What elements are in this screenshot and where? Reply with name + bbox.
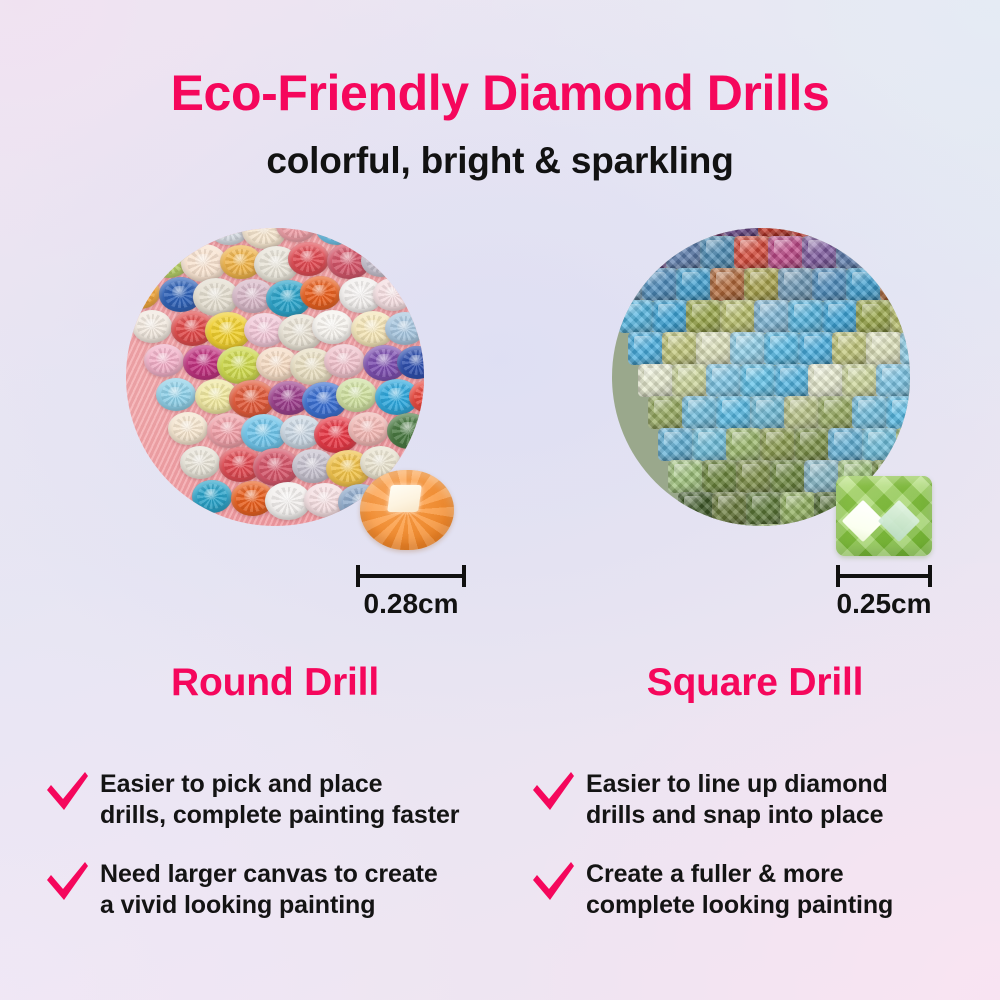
square-drill-stone <box>784 396 820 429</box>
square-drill-stone <box>896 428 910 461</box>
round-drill-stone <box>348 412 389 446</box>
square-drill-measurement-label: 0.25cm <box>784 588 984 620</box>
list-item: Easier to line up diamond drills and sna… <box>530 768 992 834</box>
square-drill-stone <box>794 428 830 461</box>
round-drill-stone <box>192 480 232 513</box>
square-drill-stone <box>744 268 780 301</box>
list-item-line2: a vivid looking painting <box>100 890 514 921</box>
square-drill-stone <box>658 428 694 461</box>
infographic-page: Eco-Friendly Diamond Drills colorful, br… <box>0 0 1000 1000</box>
square-drill-stone <box>788 300 824 333</box>
square-drill-stone <box>700 236 736 269</box>
round-drill-stone <box>312 310 353 344</box>
square-drill-stone <box>734 236 770 269</box>
round-drill-stone <box>288 242 329 276</box>
square-drill-stone <box>652 300 688 333</box>
square-drill-stone <box>716 396 752 429</box>
square-drill-stone <box>702 460 738 493</box>
square-drill-stone <box>764 332 800 365</box>
square-drill-stone <box>692 428 728 461</box>
square-drill-stone <box>846 268 882 301</box>
square-drill-stone <box>638 364 674 397</box>
square-drill-stone <box>768 236 804 269</box>
round-drill-stone <box>132 310 172 343</box>
square-drill-stone <box>712 492 748 525</box>
check-icon <box>44 860 90 904</box>
list-item-line2: complete looking painting <box>586 890 992 921</box>
square-drill-stone <box>828 428 864 461</box>
square-drill-stone <box>770 460 806 493</box>
square-drill-stone <box>852 396 888 429</box>
square-drill-stone <box>686 300 722 333</box>
measure-cap-right-icon <box>928 565 932 587</box>
square-drill-stone <box>648 396 684 429</box>
round-drill-stone <box>387 413 424 449</box>
round-drill-sample <box>360 470 454 550</box>
square-drill-stone <box>900 332 910 365</box>
square-drill-stone <box>710 268 746 301</box>
square-drill-stone <box>666 236 702 269</box>
page-subtitle: colorful, bright & sparkling <box>0 140 1000 182</box>
round-drill-stone <box>300 276 341 310</box>
square-drill-stone <box>822 300 858 333</box>
square-drill-stone <box>662 332 698 365</box>
square-drill-stone <box>682 396 718 429</box>
square-drill-stone <box>740 364 776 397</box>
square-drill-stone <box>886 396 910 429</box>
round-drill-stone <box>324 344 365 378</box>
square-drill-stone <box>668 460 704 493</box>
square-drill-stone <box>808 364 844 397</box>
square-drill-stone <box>726 428 762 461</box>
round-drill-stone <box>385 312 424 345</box>
square-drill-stone <box>842 364 878 397</box>
square-drill-stone <box>736 460 772 493</box>
list-item-text: Create a fuller & more complete looking … <box>586 858 992 920</box>
square-drill-stone <box>836 236 872 269</box>
square-drill-stone <box>812 268 848 301</box>
round-drill-stone <box>156 378 196 411</box>
round-drill-stone <box>361 244 401 277</box>
square-drill-stone <box>632 236 668 269</box>
measure-line <box>836 574 932 578</box>
page-title: Eco-Friendly Diamond Drills <box>0 64 1000 122</box>
round-drill-highlight <box>387 485 422 512</box>
list-item: Create a fuller & more complete looking … <box>530 858 992 924</box>
square-drill-stone <box>730 332 766 365</box>
square-drill-stone <box>818 396 854 429</box>
square-drill-stone <box>904 236 910 269</box>
check-icon <box>530 770 576 814</box>
list-item: Easier to pick and place drills, complet… <box>44 768 514 834</box>
list-item-line1: Easier to line up diamond <box>586 770 888 798</box>
check-icon <box>44 770 90 814</box>
square-drill-stone <box>760 428 796 461</box>
square-drill-feature-list: Easier to line up diamond drills and sna… <box>530 768 992 948</box>
list-item-line1: Create a fuller & more <box>586 860 844 888</box>
square-drill-stone <box>612 268 644 301</box>
square-drill-heading: Square Drill <box>540 661 970 705</box>
square-drill-sample <box>836 476 932 556</box>
list-item: Need larger canvas to create a vivid loo… <box>44 858 514 924</box>
measure-cap-right-icon <box>462 565 466 587</box>
list-item-line1: Need larger canvas to create <box>100 860 438 888</box>
square-drill-stone <box>678 492 714 525</box>
square-drill-stone <box>696 332 732 365</box>
square-drill-stone <box>856 300 892 333</box>
square-drill-stone <box>774 364 810 397</box>
square-drill-measure-bar <box>836 565 932 587</box>
square-drill-stone <box>756 524 792 526</box>
list-item-text: Easier to pick and place drills, complet… <box>100 768 514 830</box>
round-drill-heading: Round Drill <box>60 661 490 705</box>
square-drill-stone <box>876 364 910 397</box>
square-drill-stone <box>790 524 826 526</box>
square-drill-stone <box>746 492 782 525</box>
square-drill-stone <box>798 332 834 365</box>
round-drill-stone <box>336 378 377 412</box>
round-drill-stone <box>373 278 413 311</box>
list-item-text: Easier to line up diamond drills and sna… <box>586 768 992 830</box>
round-drill-stone <box>168 412 208 445</box>
round-drill-feature-list: Easier to pick and place drills, complet… <box>44 768 514 948</box>
square-drill-stone <box>832 332 868 365</box>
square-drill-stone <box>880 268 910 301</box>
round-drill-measure-bar <box>356 565 466 587</box>
square-drill-stone <box>722 524 758 526</box>
square-drill-stone <box>612 236 634 269</box>
square-drill-stone <box>780 492 816 525</box>
square-drill-stone <box>802 236 838 269</box>
list-item-line2: drills, complete painting faster <box>100 800 514 831</box>
list-item-line1: Easier to pick and place <box>100 770 382 798</box>
square-drill-stone <box>866 332 902 365</box>
list-item-text: Need larger canvas to create a vivid loo… <box>100 858 514 920</box>
measure-line <box>356 574 466 578</box>
square-drill-stone <box>618 300 654 333</box>
square-drill-stone <box>804 460 840 493</box>
check-icon <box>530 860 576 904</box>
round-drill-measurement-label: 0.28cm <box>311 588 511 620</box>
square-drill-stone <box>628 332 664 365</box>
round-drill-stone <box>180 446 220 479</box>
square-drill-stone <box>750 396 786 429</box>
square-drill-stone <box>778 268 814 301</box>
square-drill-stone <box>676 268 712 301</box>
square-drill-stone <box>870 236 906 269</box>
square-drill-stone <box>720 300 756 333</box>
square-drill-stone <box>672 364 708 397</box>
square-drill-stone <box>706 364 742 397</box>
square-drill-stone <box>890 300 910 333</box>
list-item-line2: drills and snap into place <box>586 800 992 831</box>
round-drill-stone <box>144 344 184 377</box>
square-drill-stone <box>688 524 724 526</box>
square-drill-stone <box>754 300 790 333</box>
square-drill-stone <box>642 268 678 301</box>
square-drill-stone <box>862 428 898 461</box>
